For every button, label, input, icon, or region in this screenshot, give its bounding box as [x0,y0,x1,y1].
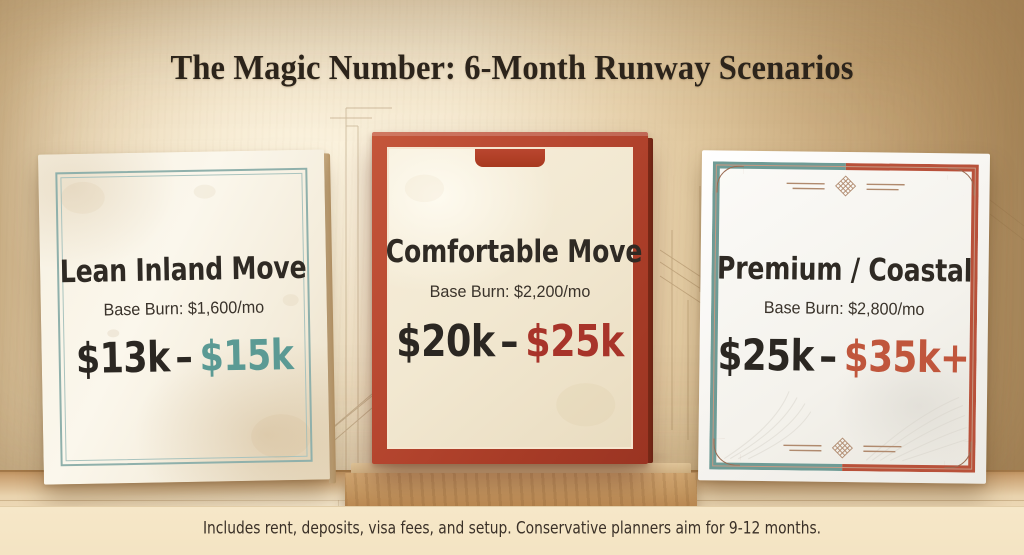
diamond-ornament-top [780,174,910,198]
range-low-value: $25k [717,330,814,381]
range-dash: – [175,332,193,381]
pedestal-face [345,473,697,510]
pedestal [345,463,697,510]
panel-title: Premium / Coastal [715,250,975,289]
frame-highlight [372,132,648,136]
panel-title: Lean Inland Move [54,250,312,291]
infographic-canvas: The Magic Number: 6-Month Runway Scenari… [0,0,1024,555]
footer-note: Includes rent, deposits, visa fees, and … [36,519,988,538]
panel-title: Comfortable Move [386,234,634,270]
panel-range: $13k–$15k [53,330,317,384]
panel-range: $20k–$25k [383,316,637,367]
range-high-value: $25k [525,316,623,367]
range-dash: – [500,316,518,367]
range-low-value: $13k [76,332,171,383]
page-title: The Magic Number: 6-Month Runway Scenari… [36,48,988,88]
panel-range: $25k–$35k+ [711,330,977,383]
panel-frame: Comfortable Move Base Burn: $2,200/mo $2… [372,132,648,464]
diamond-ornament-bottom [777,436,907,460]
panel-premium-coastal[interactable]: Premium / Coastal Base Burn: $2,800/mo $… [698,150,990,483]
range-dash: – [819,332,837,382]
panel-base-burn: Base Burn: $2,800/mo [707,297,981,320]
panel-board: Premium / Coastal Base Burn: $2,800/mo $… [698,150,990,483]
range-low-value: $20k [396,316,494,367]
panel-lean-inland-move[interactable]: Lean Inland Move Base Burn: $1,600/mo $1… [38,149,330,484]
frame-hanger-tab [475,149,545,167]
panel-board: Lean Inland Move Base Burn: $1,600/mo $1… [38,149,330,484]
panel-comfortable-move[interactable]: Comfortable Move Base Burn: $2,200/mo $2… [372,132,648,464]
range-high-value: $35k+ [844,332,970,384]
panel-base-burn: Base Burn: $2,200/mo [379,282,641,302]
range-high-value: $15k [199,330,294,381]
